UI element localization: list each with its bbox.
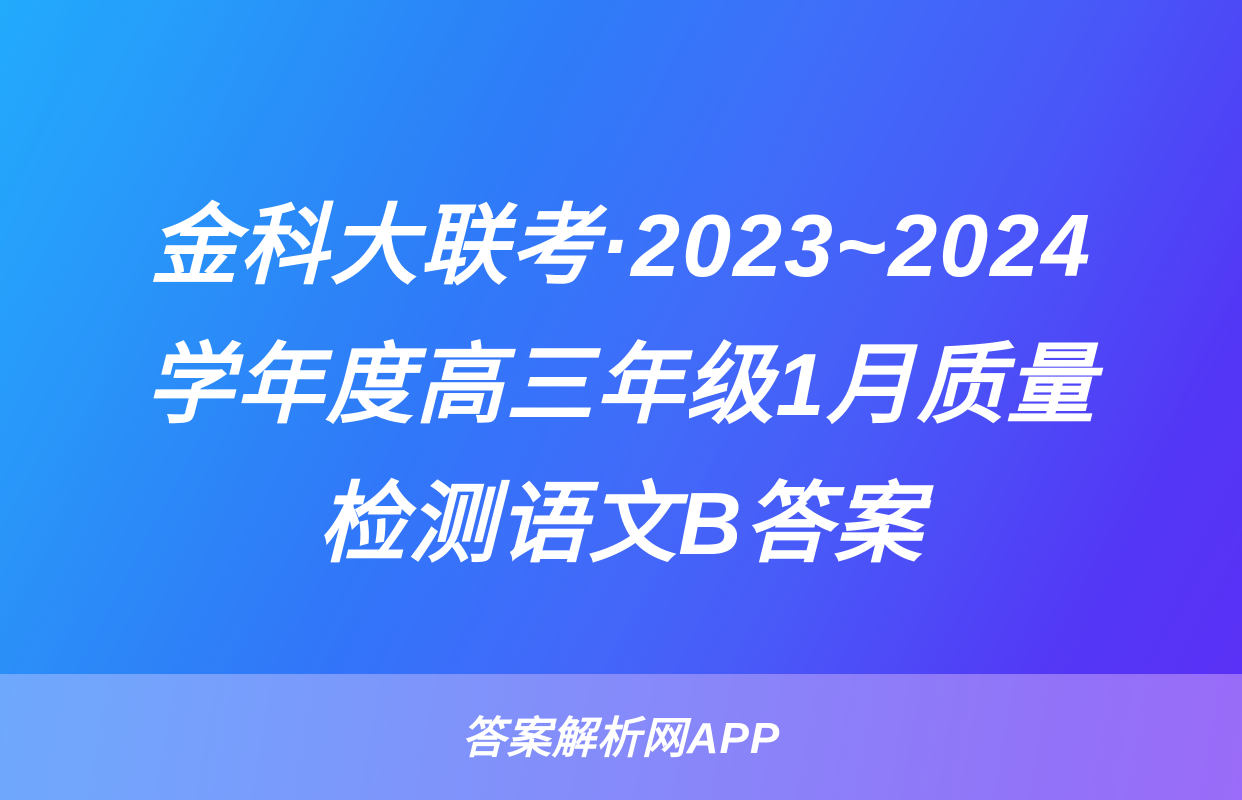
footer-brand-label: 答案解析网APP bbox=[462, 717, 780, 761]
answer-poster: 金科大联考·2023~2024 学年度高三年级1月质量 检测语文B答案 答案解析… bbox=[0, 0, 1242, 800]
page-title: 金科大联考·2023~2024 学年度高三年级1月质量 检测语文B答案 bbox=[0, 176, 1242, 593]
title-line-2: 学年度高三年级1月质量 bbox=[40, 315, 1202, 454]
title-line-1: 金科大联考·2023~2024 bbox=[40, 176, 1202, 315]
title-line-3: 检测语文B答案 bbox=[40, 454, 1202, 593]
footer-brand-band: 答案解析网APP bbox=[0, 674, 1242, 800]
hero-gradient-panel: 金科大联考·2023~2024 学年度高三年级1月质量 检测语文B答案 bbox=[0, 0, 1242, 674]
